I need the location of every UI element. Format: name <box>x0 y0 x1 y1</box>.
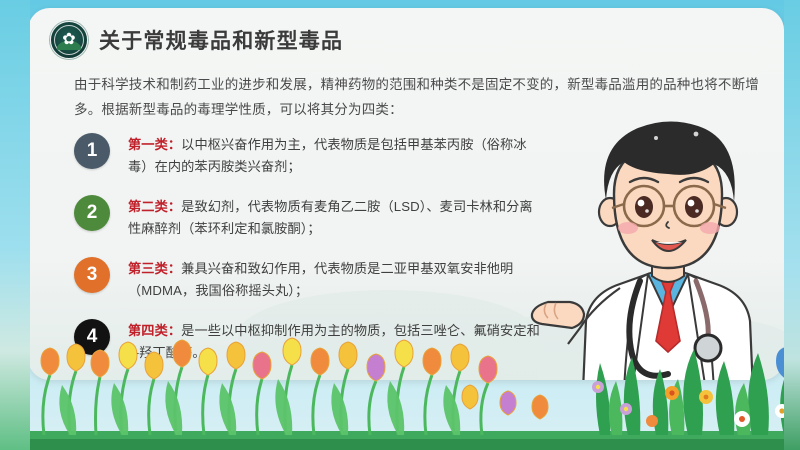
list-item-label-1: 第一类： <box>128 137 181 152</box>
list-item-badge-2: 2 <box>74 195 110 231</box>
list-item-badge-1: 1 <box>74 133 110 169</box>
header: ✿ 关于常规毒品和新型毒品 <box>50 21 343 59</box>
list-item-label-3: 第三类： <box>128 261 181 276</box>
list-item: 3 第三类：兼具兴奋和致幻作用，代表物质是二亚甲基双氧安非他明（MDMA，我国俗… <box>74 256 544 302</box>
list-item-text-2: 第二类：是致幻剂，代表物质有麦角乙二胺（LSD）、麦司卡林和分离性麻醉剂（苯环利… <box>128 194 544 240</box>
list-item: 1 第一类：以中枢兴奋作用为主，代表物质是包括甲基苯丙胺（俗称冰毒）在内的苯丙胺… <box>74 132 544 178</box>
list-item-body-1: 以中枢兴奋作用为主，代表物质是包括甲基苯丙胺（俗称冰毒）在内的苯丙胺类兴奋剂； <box>128 137 527 174</box>
intro-paragraph: 由于科学技术和制药工业的进步和发展，精神药物的范围和种类不是固定不变的，新型毒品… <box>74 72 764 122</box>
content-card: ✿ 关于常规毒品和新型毒品 由于科学技术和制药工业的进步和发展，精神药物的范围和… <box>28 8 784 380</box>
emblem-dove-icon: ✿ <box>62 32 75 48</box>
china-anti-drug-emblem-icon: ✿ <box>50 21 88 59</box>
list-item-text-1: 第一类：以中枢兴奋作用为主，代表物质是包括甲基苯丙胺（俗称冰毒）在内的苯丙胺类兴… <box>128 132 544 178</box>
list-item-text-3: 第三类：兼具兴奋和致幻作用，代表物质是二亚甲基双氧安非他明（MDMA，我国俗称摇… <box>128 256 544 302</box>
right-edge-strip <box>784 0 800 450</box>
page-title: 关于常规毒品和新型毒品 <box>99 25 343 55</box>
list-item: 2 第二类：是致幻剂，代表物质有麦角乙二胺（LSD）、麦司卡林和分离性麻醉剂（苯… <box>74 194 544 240</box>
left-edge-strip <box>0 0 30 450</box>
list-item-body-3: 兼具兴奋和致幻作用，代表物质是二亚甲基双氧安非他明（MDMA，我国俗称摇头丸）； <box>128 261 513 298</box>
list-item-label-2: 第二类： <box>128 199 181 214</box>
list-item-badge-3: 3 <box>74 257 110 293</box>
tulip-flower-field <box>0 335 800 450</box>
list-item-body-2: 是致幻剂，代表物质有麦角乙二胺（LSD）、麦司卡林和分离性麻醉剂（苯环利定和氯胺… <box>128 199 533 236</box>
